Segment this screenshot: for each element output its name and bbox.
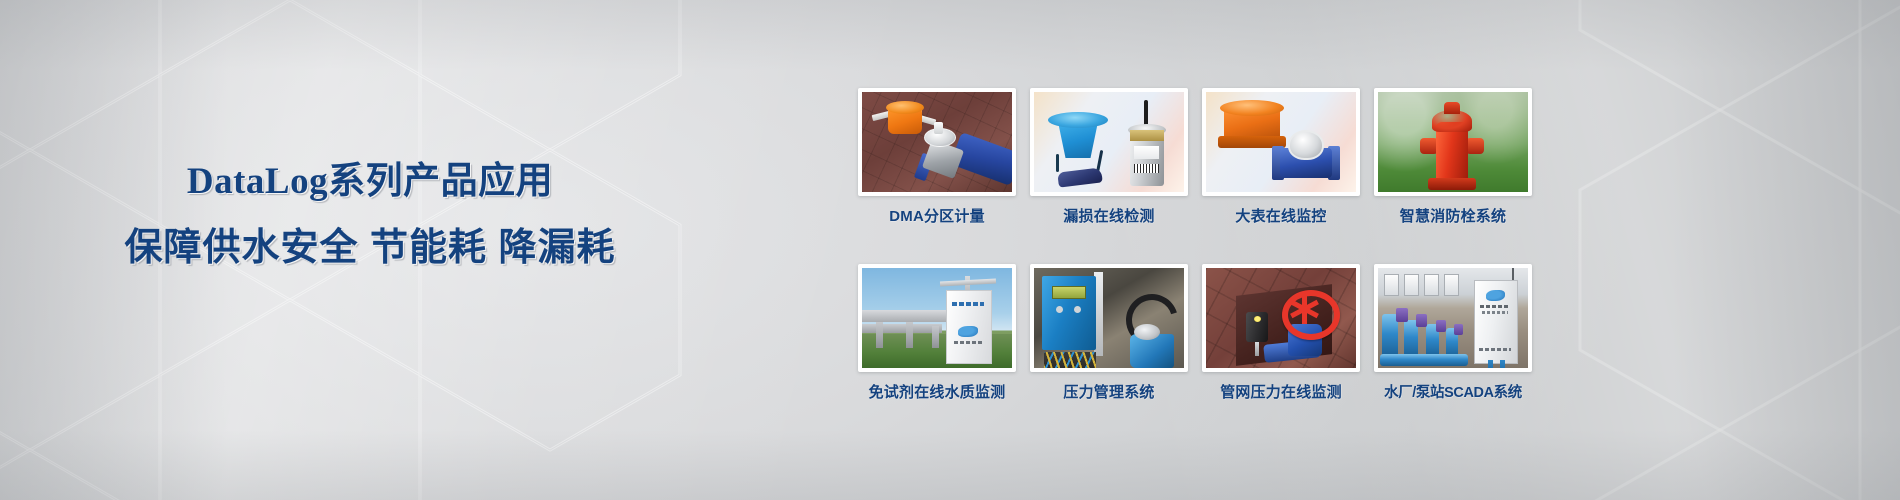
headline-secondary: 保障供水安全 节能耗 降漏耗 [0, 229, 740, 269]
thumbnail-large-meter-monitoring[interactable] [1202, 88, 1360, 196]
headline-block: DataLog系列产品应用 保障供水安全 节能耗 降漏耗 [0, 163, 740, 269]
tile-caption: 免试剂在线水质监测 [858, 381, 1016, 402]
tile-caption: 漏损在线检测 [1030, 205, 1188, 226]
scene-pump-room-cabinet [1034, 268, 1184, 368]
product-tile-dma-zone-metering[interactable]: DMA分区计量 [858, 88, 1016, 228]
thumbnail-leak-online-detection[interactable] [1030, 88, 1188, 196]
tile-caption: 管网压力在线监测 [1202, 381, 1360, 402]
product-tile-large-meter-monitoring[interactable]: 大表在线监控 [1202, 88, 1360, 228]
thumbnail-reagent-free-water-quality[interactable] [858, 264, 1016, 372]
product-tile-scada-system[interactable]: 水厂/泵站SCADA系统 [1374, 264, 1532, 404]
thumbnail-dma-zone-metering[interactable] [858, 88, 1016, 196]
scene-grass-outdoor [1378, 92, 1528, 192]
thumbnail-scada-system[interactable] [1374, 264, 1532, 372]
scene-brick-valve-pit [1206, 268, 1356, 368]
tile-caption: DMA分区计量 [858, 205, 1016, 226]
scene-brick-pavement [862, 92, 1012, 192]
product-tile-reagent-free-water-quality[interactable]: 免试剂在线水质监测 [858, 264, 1016, 404]
thumbnail-smart-hydrant-system[interactable] [1374, 88, 1532, 196]
scene-studio-backdrop [1034, 92, 1184, 192]
scene-meter-studio [1206, 92, 1356, 192]
product-tile-network-pressure-monitoring[interactable]: 管网压力在线监测 [1202, 264, 1360, 404]
scene-roadside-overpass [862, 268, 1012, 368]
product-tile-leak-online-detection[interactable]: 漏损在线检测 [1030, 88, 1188, 228]
product-tile-pressure-management[interactable]: 压力管理系统 [1030, 264, 1188, 404]
tile-caption: 水厂/泵站SCADA系统 [1374, 381, 1532, 402]
tile-caption: 智慧消防栓系统 [1374, 205, 1532, 226]
product-tile-smart-hydrant-system[interactable]: 智慧消防栓系统 [1374, 88, 1532, 228]
scene-pump-station-hall [1378, 268, 1528, 368]
tile-caption: 大表在线监控 [1202, 205, 1360, 226]
product-application-banner: DataLog系列产品应用 保障供水安全 节能耗 降漏耗 [0, 0, 1900, 500]
product-tile-grid: DMA分区计量 漏损在线检测 [858, 88, 1532, 404]
headline-primary: DataLog系列产品应用 [0, 163, 740, 202]
tile-caption: 压力管理系统 [1030, 381, 1188, 402]
thumbnail-network-pressure-monitoring[interactable] [1202, 264, 1360, 372]
thumbnail-pressure-management[interactable] [1030, 264, 1188, 372]
